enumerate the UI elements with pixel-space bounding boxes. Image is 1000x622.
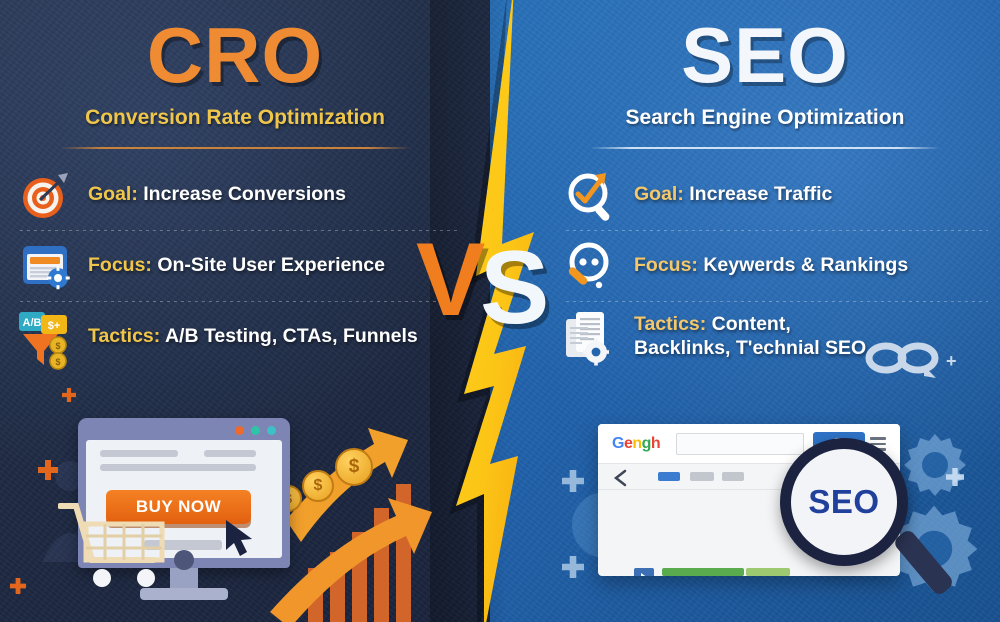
seo-row-goal: Goal: Increase Traffic [530,163,1000,227]
content-bar [204,450,256,457]
cro-tactics-value: A/B Testing, CTAs, Funnels [165,325,418,347]
back-arrow-icon[interactable] [612,469,630,487]
cro-title: CRO [0,0,470,94]
window-dot-red [235,426,244,435]
svg-text:+: + [946,351,957,371]
tab-active[interactable] [658,472,680,481]
cro-row-tactics: A/B $+ $ $ Tactics: A/B Testing, CTAs, F… [0,305,470,369]
versus-badge: V S [408,228,598,358]
seo-focus-label: Focus: [634,254,698,276]
result-green-bar [746,568,790,576]
seo-row-focus: Focus: Keywerds & Rankings [530,234,1000,298]
tab-item[interactable] [722,472,744,481]
cro-row-goal-text: Goal: Increase Conversions [88,183,346,207]
seo-tactics-value-line2: Backlinks, T'echnial SEO [634,337,866,361]
cro-subtitle: Conversion Rate Optimization [0,106,470,130]
cro-focus-label: Focus: [88,254,152,276]
plus-decoration-icon [946,468,964,491]
seo-tactics-label: Tactics: [634,313,706,335]
seo-header-rule [590,147,940,149]
ab-test-funnel-icon: A/B $+ $ $ [18,309,74,365]
cro-tactics-label: Tactics: [88,325,160,347]
browser-settings-icon [18,238,74,294]
seo-row-tactics-text: Tactics: Content, Backlinks, T'echnial S… [634,313,866,361]
window-dot-green [251,426,260,435]
plus-decoration-icon [10,578,26,599]
coin-icon: $ [335,448,373,486]
magnifier-growth-icon [564,167,620,223]
content-bar [100,464,256,471]
seo-magnifier-illustration: SEO [780,438,908,566]
seo-goal-value: Increase Traffic [689,183,832,205]
svg-text:A/B: A/B [23,317,42,329]
seo-goal-label: Goal: [634,183,684,205]
cro-row-focus-text: Focus: On-Site User Experience [88,254,385,278]
versus-s: S [480,236,549,340]
seo-subtitle: Search Engine Optimization [530,106,1000,130]
shopping-cart-icon [58,498,168,582]
svg-text:$: $ [55,341,60,351]
seo-title: SEO [530,0,1000,94]
result-play-icon [634,568,654,576]
chain-link-icon: + [862,336,958,389]
seo-column: SEO Search Engine Optimization Goal: Inc… [530,0,1000,369]
cro-focus-value: On-Site User Experience [157,254,385,276]
monitor-power-dot [174,550,194,570]
logo-letter: n [632,435,641,452]
cro-header-rule [60,147,410,149]
infographic-canvas: CRO Conversion Rate Optimization [0,0,1000,622]
cro-feature-list: Goal: Increase Conversions [0,163,470,369]
target-dart-icon [18,167,74,223]
svg-text:$+: $+ [48,320,61,332]
seo-row-focus-text: Focus: Keywerds & Rankings [634,254,908,278]
cro-goal-value: Increase Conversions [143,183,346,205]
plus-decoration-icon [38,460,58,485]
seo-focus-value: Keywerds & Rankings [703,254,908,276]
cro-separator-2 [20,301,458,302]
result-green-bar [662,568,744,576]
cro-row-focus: Focus: On-Site User Experience [0,234,470,298]
seo-tactics-value: Content, [712,313,791,335]
seo-separator-2 [566,301,988,302]
magnifier-label: SEO [780,438,908,566]
mouse-cursor-icon [224,518,260,560]
cro-separator-1 [20,230,458,231]
versus-v: V [416,228,485,332]
seo-separator-1 [566,230,988,231]
cro-row-tactics-text: Tactics: A/B Testing, CTAs, Funnels [88,325,418,349]
cro-column: CRO Conversion Rate Optimization [0,0,470,369]
plus-decoration-icon [62,388,76,407]
logo-letter: G [612,435,624,452]
logo-letter: g [642,435,651,452]
content-bar [100,450,178,457]
window-dot-blue [267,426,276,435]
coin-icon: $ [302,470,334,502]
svg-text:$: $ [55,357,60,367]
cro-row-goal: Goal: Increase Conversions [0,163,470,227]
logo-letter: h [651,435,660,452]
tab-item[interactable] [690,472,714,481]
seo-row-goal-text: Goal: Increase Traffic [634,183,832,207]
cro-goal-label: Goal: [88,183,138,205]
search-engine-logo: Gengh [612,435,660,453]
